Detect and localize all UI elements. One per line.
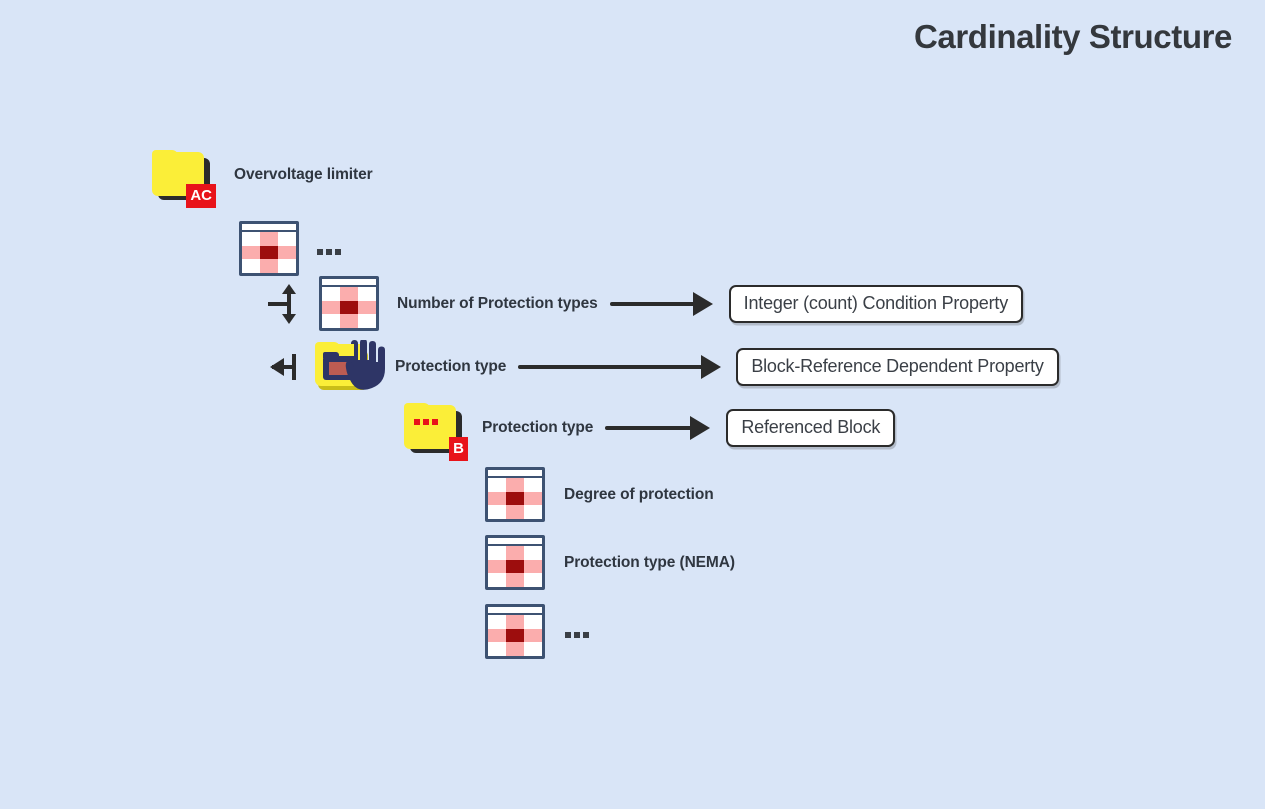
- table-cell: [488, 546, 506, 560]
- table-cell: [322, 314, 340, 328]
- table-cell: [358, 301, 376, 315]
- ellipsis-icon: [317, 249, 341, 255]
- arrow-head: [690, 416, 710, 440]
- table-cell: [278, 246, 296, 260]
- value-box[interactable]: Referenced Block: [726, 409, 895, 447]
- folder-tab: [315, 342, 340, 350]
- table-cell: [260, 259, 278, 273]
- table-icon-grid: [488, 478, 542, 519]
- table-cell: [506, 546, 524, 560]
- folder-dots-icon: [414, 419, 438, 425]
- table-cell: [242, 246, 260, 260]
- table-icon-header: [322, 279, 376, 285]
- arrow-line: [605, 426, 692, 430]
- table-cell: [488, 492, 506, 506]
- folder-flap: [152, 158, 204, 162]
- table-cell: [524, 478, 542, 492]
- table-cell: [488, 629, 506, 643]
- table-icon-header: [488, 607, 542, 613]
- arrow-line: [518, 365, 703, 369]
- table-icon-grid: [242, 232, 296, 273]
- table-cell: [524, 642, 542, 656]
- table-cell: [506, 615, 524, 629]
- table-cell: [506, 629, 524, 643]
- tree-row-label: Number of Protection types: [397, 295, 598, 313]
- table-cell: [278, 259, 296, 273]
- table-cell: [524, 492, 542, 506]
- tree-node-root-label: Overvoltage limiter: [234, 166, 373, 184]
- table-cell: [506, 478, 524, 492]
- table-cell: [506, 642, 524, 656]
- tree-leaf-degree-of-protection[interactable]: Degree of protection: [485, 467, 714, 522]
- table-cell: [242, 232, 260, 246]
- cardinality-vertical-double-arrow-icon[interactable]: [268, 284, 302, 324]
- tree-leaf-protection-type-nema[interactable]: Protection type (NEMA): [485, 535, 735, 590]
- arrow-right-icon: [610, 294, 713, 314]
- tree-row-label: Protection type: [482, 419, 593, 437]
- table-cell: [524, 505, 542, 519]
- tree-row-number-of-protection-types[interactable]: Number of Protection types Integer (coun…: [268, 276, 1023, 331]
- tree-row-protection-type-dependent[interactable]: Protection type Block-Reference Dependen…: [268, 342, 1059, 392]
- table-cell: [322, 287, 340, 301]
- folder-flap: [404, 411, 456, 415]
- table-icon-header: [242, 224, 296, 230]
- table-icon-grid: [488, 615, 542, 656]
- table-cell: [524, 573, 542, 587]
- table-cell: [488, 505, 506, 519]
- table-cell: [506, 573, 524, 587]
- table-cell: [322, 301, 340, 315]
- arrow-head: [693, 292, 713, 316]
- table-cell: [358, 314, 376, 328]
- folder-b-icon[interactable]: B: [404, 403, 462, 453]
- table-cell: [278, 232, 296, 246]
- table-cell: [340, 301, 358, 315]
- table-cell: [524, 560, 542, 574]
- page-title: Cardinality Structure: [914, 18, 1232, 56]
- table-icon[interactable]: [485, 535, 545, 590]
- arrow-line: [610, 302, 695, 306]
- folder-badge-b: B: [449, 437, 468, 461]
- table-cell: [488, 573, 506, 587]
- table-cell: [524, 546, 542, 560]
- table-icon-header: [488, 538, 542, 544]
- tree-leaf-label: Degree of protection: [564, 486, 714, 504]
- table-cell: [524, 615, 542, 629]
- table-icon[interactable]: [485, 604, 545, 659]
- table-cell: [506, 505, 524, 519]
- arrow-right-icon: [605, 418, 710, 438]
- folder-badge-ac: AC: [186, 184, 216, 208]
- table-icon-header: [488, 470, 542, 476]
- table-cell: [488, 642, 506, 656]
- tree-row-label: Protection type: [395, 358, 506, 376]
- folder-ac-icon[interactable]: AC: [152, 150, 210, 200]
- table-icon[interactable]: [239, 221, 299, 276]
- table-cell: [488, 560, 506, 574]
- table-cell: [260, 246, 278, 260]
- table-cell: [524, 629, 542, 643]
- cardinality-left-arrow-bar-icon[interactable]: [268, 347, 302, 387]
- table-cell: [340, 314, 358, 328]
- table-cell: [506, 560, 524, 574]
- tree-row-protection-type-referenced[interactable]: B Protection type Referenced Block: [404, 403, 895, 453]
- table-cell: [506, 492, 524, 506]
- value-box[interactable]: Block-Reference Dependent Property: [736, 348, 1058, 386]
- table-cell: [260, 232, 278, 246]
- table-icon-grid: [488, 546, 542, 587]
- tree-node-root[interactable]: AC Overvoltage limiter: [152, 150, 373, 200]
- arrow-head: [701, 355, 721, 379]
- table-cell: [488, 615, 506, 629]
- table-icon[interactable]: [485, 467, 545, 522]
- folder-hand-icon[interactable]: [315, 342, 385, 392]
- tree-node-root-ellipsis[interactable]: [239, 221, 341, 276]
- value-box[interactable]: Integer (count) Condition Property: [729, 285, 1023, 323]
- arrow-right-icon: [518, 357, 721, 377]
- tree-leaf-label: Protection type (NEMA): [564, 554, 735, 572]
- table-icon-grid: [322, 287, 376, 328]
- table-cell: [340, 287, 358, 301]
- table-cell: [358, 287, 376, 301]
- table-cell: [242, 259, 260, 273]
- hand-icon: [345, 340, 385, 392]
- ellipsis-icon: [565, 632, 589, 638]
- tree-leaf-ellipsis[interactable]: [485, 604, 589, 659]
- table-icon[interactable]: [319, 276, 379, 331]
- table-cell: [488, 478, 506, 492]
